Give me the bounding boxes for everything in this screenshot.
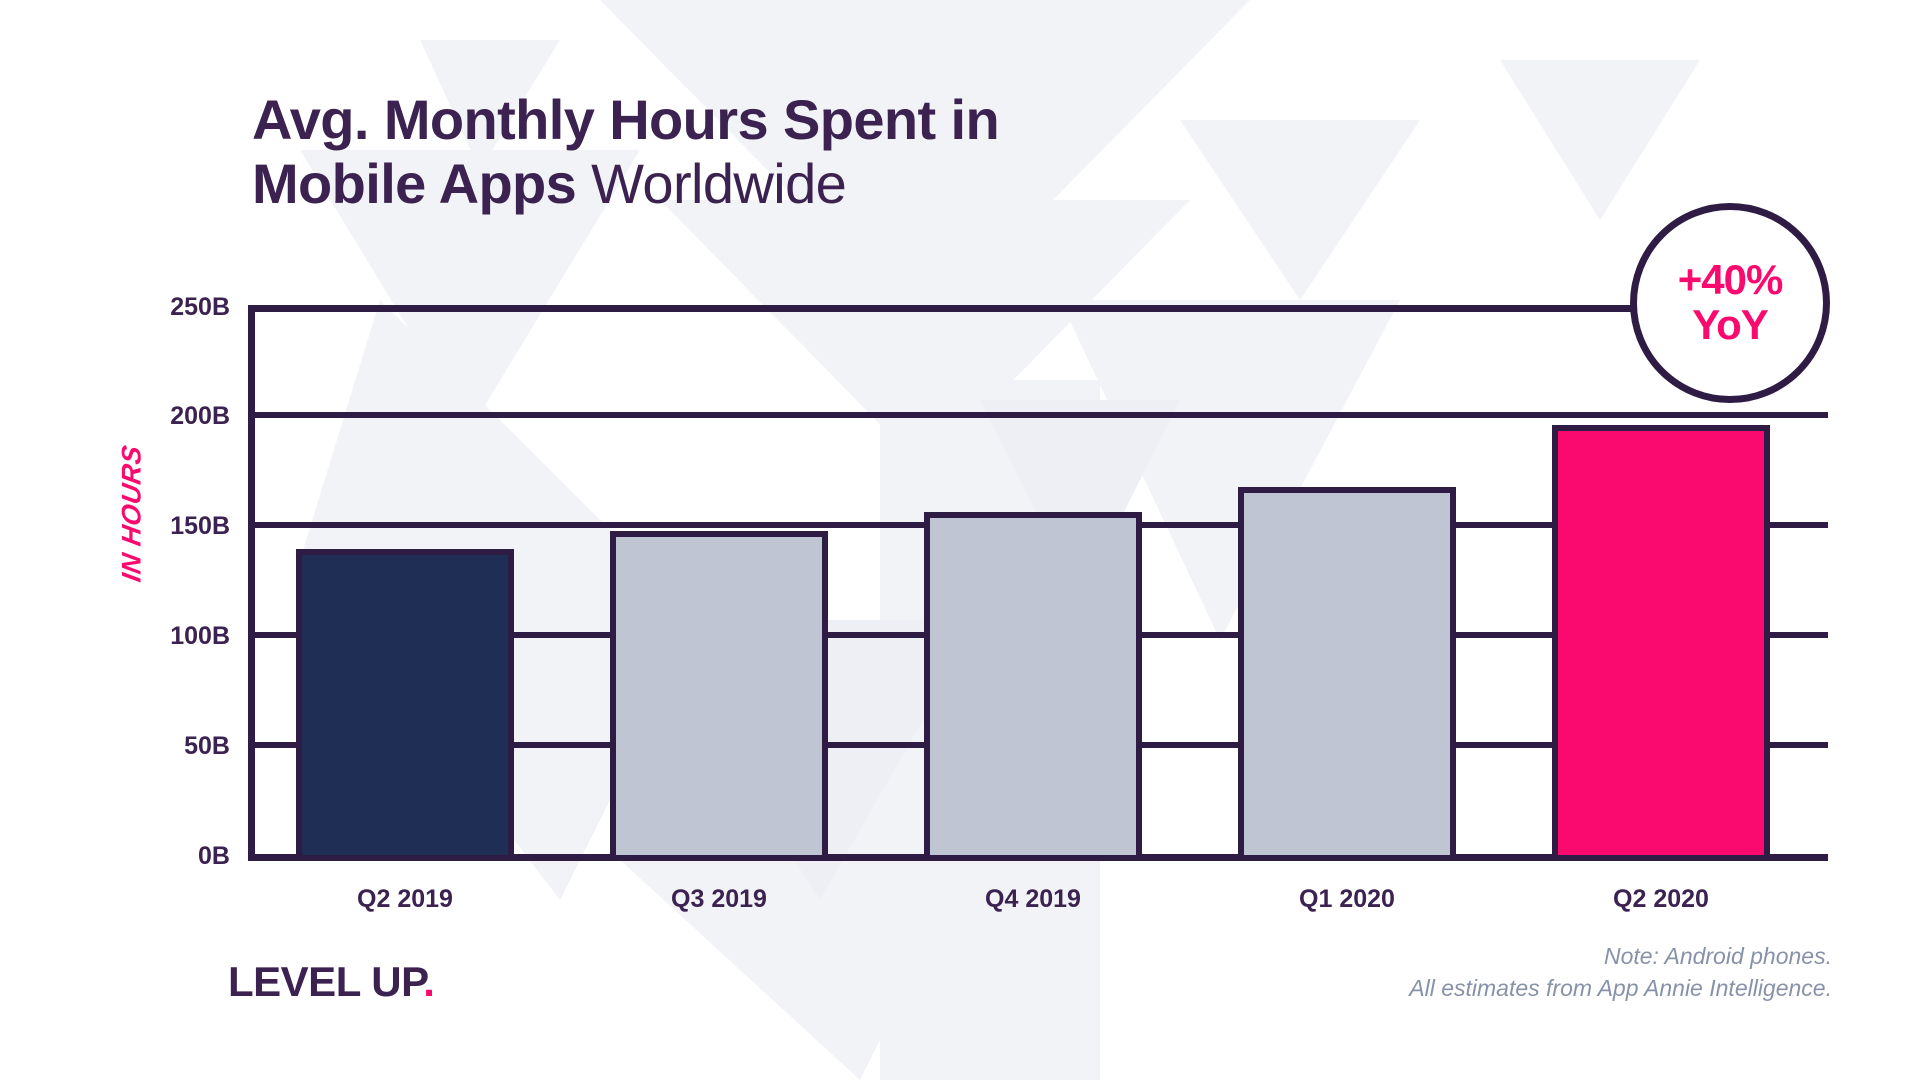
x-axis-tick-labels: Q2 2019 Q3 2019 Q4 2019 Q1 2020 Q2 2020 — [248, 885, 1828, 935]
x-tick-q4-2019: Q4 2019 — [876, 885, 1190, 914]
bar-q2-2019[interactable] — [296, 549, 514, 861]
x-tick-q3-2019: Q3 2019 — [562, 885, 876, 914]
bar-q3-2019[interactable] — [610, 531, 828, 861]
title-line-2-light: Worldwide — [576, 152, 846, 215]
x-tick-q1-2020: Q1 2020 — [1190, 885, 1504, 914]
x-tick-q2-2019: Q2 2019 — [248, 885, 562, 914]
title-line-2: Mobile Apps Worldwide — [252, 152, 999, 216]
badge-period: YoY — [1692, 302, 1768, 348]
badge-percent: +40% — [1678, 258, 1783, 302]
source-note: Note: Android phones. All estimates from… — [1409, 940, 1832, 1004]
y-tick-200b: 200B — [100, 402, 230, 431]
y-tick-150b: 150B — [100, 512, 230, 541]
title-line-1: Avg. Monthly Hours Spent in — [252, 88, 999, 152]
title-line-2-bold: Mobile Apps — [252, 152, 576, 215]
y-tick-250b: 250B — [100, 293, 230, 322]
bar-q1-2020[interactable] — [1238, 487, 1456, 861]
brand-logo-text: LEVEL UP — [228, 958, 423, 1005]
yoy-growth-badge: +40% YoY — [1630, 203, 1830, 403]
source-note-line-2: All estimates from App Annie Intelligenc… — [1409, 972, 1832, 1004]
y-tick-0b: 0B — [100, 842, 230, 871]
y-axis-tick-labels: 250B 200B 150B 100B 50B 0B — [100, 0, 230, 1080]
brand-logo: LEVEL UP. — [228, 958, 434, 1006]
bar-q2-2020[interactable] — [1552, 425, 1770, 861]
title-line-1-text: Avg. Monthly Hours Spent in — [252, 88, 999, 151]
bar-q4-2019[interactable] — [924, 512, 1142, 861]
source-note-line-1: Note: Android phones. — [1409, 940, 1832, 972]
x-tick-q2-2020: Q2 2020 — [1504, 885, 1818, 914]
page-title: Avg. Monthly Hours Spent in Mobile Apps … — [252, 88, 999, 216]
brand-logo-dot: . — [423, 958, 434, 1005]
infographic-canvas: Avg. Monthly Hours Spent in Mobile Apps … — [0, 0, 1920, 1080]
y-tick-50b: 50B — [100, 732, 230, 761]
y-tick-100b: 100B — [100, 622, 230, 651]
